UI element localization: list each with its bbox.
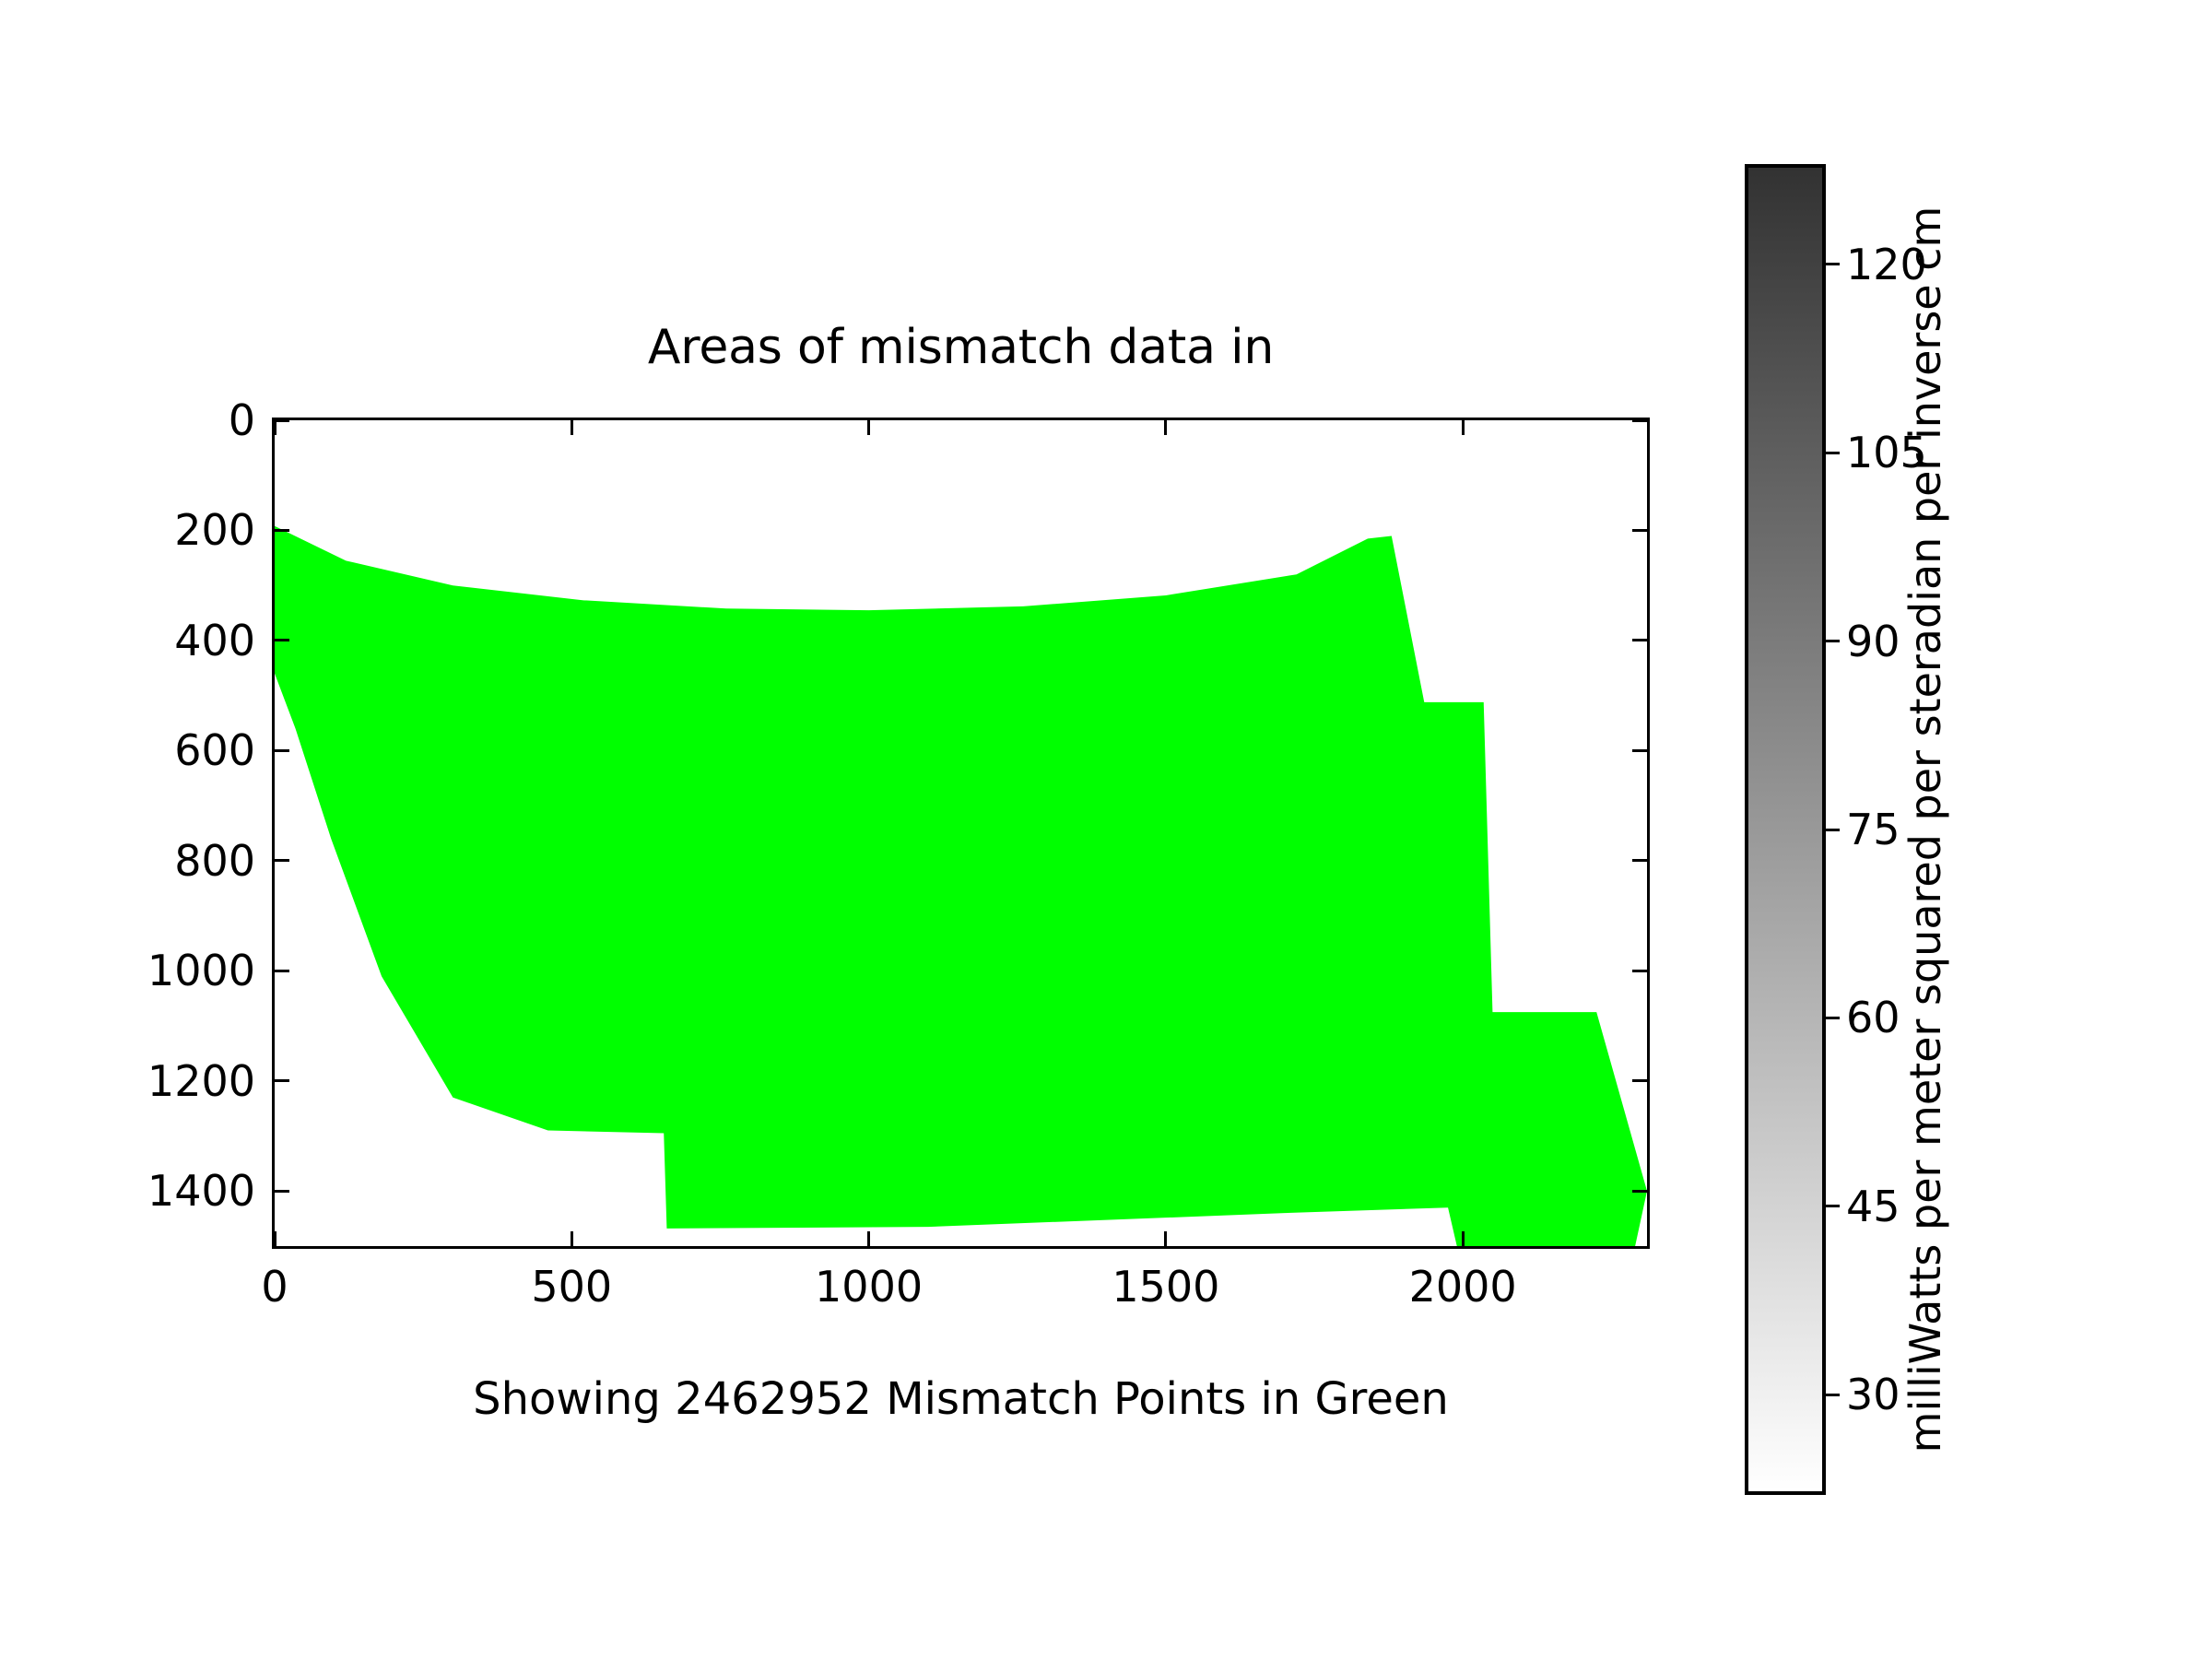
- y-tick-label: 1000: [0, 946, 255, 995]
- y-tick-mark: [275, 639, 289, 641]
- y-tick-mark: [275, 529, 289, 532]
- x-tick-mark: [867, 1231, 870, 1246]
- colorbar-tick-mark: [1826, 640, 1840, 642]
- x-tick-mark: [274, 1231, 276, 1246]
- y-tick-mark: [275, 749, 289, 752]
- mismatch-region-plot: [275, 420, 1647, 1246]
- colorbar-tick-mark: [1826, 1017, 1840, 1019]
- x-tick-label: 0: [261, 1262, 288, 1312]
- plot-axes: [272, 418, 1650, 1249]
- y-tick-mark: [275, 970, 289, 972]
- x-tick-label: 1000: [815, 1262, 923, 1312]
- x-tick-mark: [1462, 1231, 1465, 1246]
- x-tick-mark: [571, 1231, 573, 1246]
- y-tick-mark: [1632, 419, 1647, 422]
- y-tick-label: 1200: [0, 1056, 255, 1106]
- x-tick-label: 500: [531, 1262, 612, 1312]
- y-tick-mark: [275, 1190, 289, 1193]
- x-tick-mark: [571, 420, 573, 435]
- figure-canvas: Areas of mismatch data in ABI_Rad_band15…: [0, 0, 2212, 1659]
- page-title-line-1: Areas of mismatch data in: [272, 321, 1650, 374]
- x-tick-mark: [1164, 420, 1167, 435]
- mismatch-region-shape: [275, 526, 1647, 1246]
- colorbar-tick-mark: [1826, 1394, 1840, 1396]
- y-tick-mark: [1632, 970, 1647, 972]
- x-tick-mark: [867, 420, 870, 435]
- y-tick-mark: [1632, 1079, 1647, 1082]
- y-tick-label: 200: [0, 505, 255, 555]
- y-tick-mark: [275, 1079, 289, 1082]
- colorbar-tick-mark: [1826, 1205, 1840, 1207]
- x-tick-label: 1500: [1112, 1262, 1219, 1312]
- y-tick-mark: [1632, 639, 1647, 641]
- y-tick-mark: [1632, 859, 1647, 862]
- colorbar-tick-label: 75: [1846, 805, 1900, 854]
- x-tick-mark: [274, 420, 276, 435]
- x-tick-mark: [1164, 1231, 1167, 1246]
- colorbar-tick-mark: [1826, 452, 1840, 454]
- y-tick-label: 1400: [0, 1166, 255, 1216]
- colorbar-tick-mark: [1826, 829, 1840, 831]
- y-tick-mark: [275, 419, 289, 422]
- x-tick-mark: [1462, 420, 1465, 435]
- colorbar-container: 3045607590105120: [1745, 164, 1826, 1495]
- colorbar-tick-label: 30: [1846, 1370, 1900, 1419]
- colorbar-tick-mark: [1826, 263, 1840, 265]
- colorbar-tick-label: 45: [1846, 1182, 1900, 1231]
- y-tick-label: 0: [0, 395, 255, 445]
- y-tick-mark: [1632, 1190, 1647, 1193]
- y-tick-mark: [1632, 529, 1647, 532]
- y-tick-mark: [1632, 749, 1647, 752]
- y-tick-label: 400: [0, 616, 255, 665]
- colorbar-tick-label: 60: [1846, 993, 1900, 1042]
- colorbar-tick-label: 90: [1846, 617, 1900, 666]
- colorbar-axis-label: milliWatts per meter squared per steradi…: [1900, 206, 1950, 1453]
- x-tick-label: 2000: [1409, 1262, 1517, 1312]
- y-tick-label: 600: [0, 725, 255, 775]
- y-tick-label: 800: [0, 836, 255, 886]
- colorbar-gradient: [1745, 164, 1826, 1495]
- y-tick-mark: [275, 859, 289, 862]
- figure-caption: Showing 2462952 Mismatch Points in Green: [272, 1373, 1650, 1425]
